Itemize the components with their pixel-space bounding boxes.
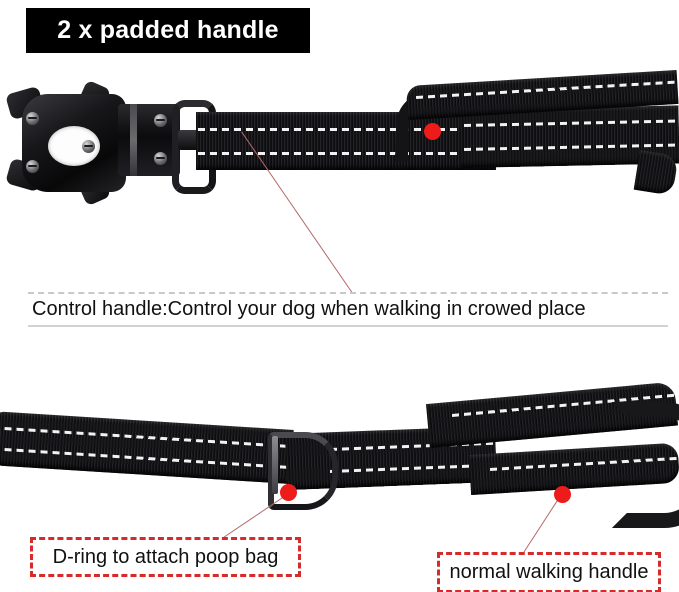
control-handle-marker-dot [424,123,441,140]
clasp-mount-plate [118,104,180,176]
normal-handle-callout-text: normal walking handle [449,561,648,584]
plate-screw-bottom [154,152,167,165]
title-banner-label: 2 x padded handle [26,8,310,53]
d-ring-straight-bar [272,436,278,494]
normal-handle-marker-dot [554,486,571,503]
normal-handle-callout-box: normal walking handle [437,552,661,592]
d-ring-callout-text: D-ring to attach poop bag [53,546,279,569]
normal-handle-leader-line [523,495,562,554]
clasp-screw-top-left [26,112,39,125]
clasp-screw-bottom-left [26,160,39,173]
walking-handle-loop-end [612,402,679,528]
product-infographic: 2 x padded handle [0,0,679,592]
control-handle-caption-text: Control handle:Control your dog when wal… [32,294,672,324]
clasp-plate-band [130,104,137,176]
d-ring-callout-box: D-ring to attach poop bag [30,537,301,577]
clasp-body [22,94,126,192]
d-ring-leader-line [222,492,291,539]
title-banner: 2 x padded handle [26,8,310,53]
d-ring-marker-dot [280,484,297,501]
caption-solid-rule [28,325,668,327]
plate-screw-top [154,114,167,127]
bottom-strap-left-run [0,411,294,484]
clasp-screw-center [82,140,95,153]
